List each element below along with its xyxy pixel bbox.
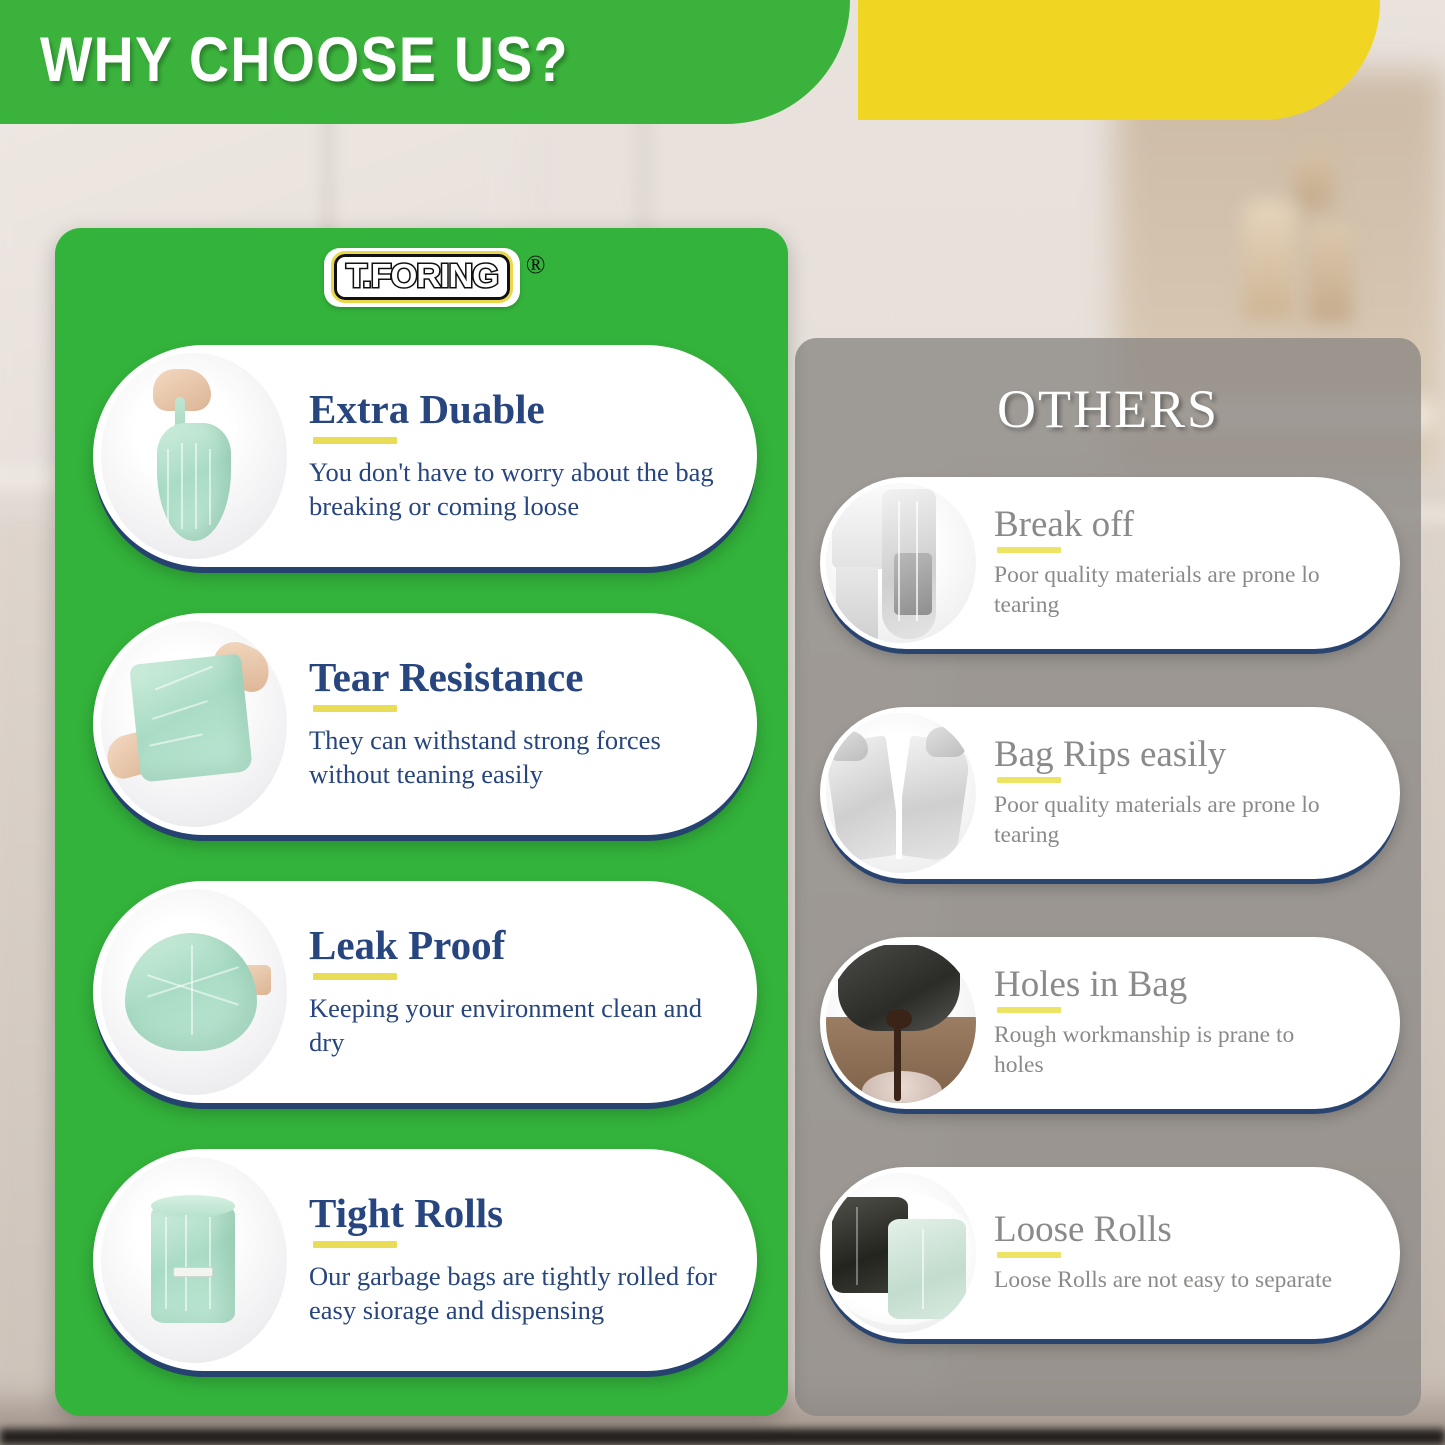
header-yellow-accent [858,0,1380,120]
others-panel-title: OTHERS [795,378,1421,440]
feature-card[interactable]: Extra Duable You don't have to worry abo… [93,345,757,567]
feature-body: Our garbage bags are tightly rolled for … [309,1259,719,1328]
feature-card[interactable]: Leak Proof Keeping your environment clea… [93,881,757,1103]
others-body: Poor quality materials are prone lo tear… [994,791,1334,850]
title-underline [997,547,1061,553]
header-green-banner: WHY CHOOSE US? [0,0,850,124]
water-filled-green-bag-icon [101,889,287,1095]
others-title: Holes in Bag [994,966,1334,1004]
others-body: Rough workmanship is prane to holes [994,1021,1334,1080]
others-card[interactable]: Loose Rolls Loose Rolls are not easy to … [820,1167,1400,1339]
hands-ripping-bag-icon [826,713,976,873]
hands-stretching-green-bag-icon [101,621,287,827]
brand-logo-text: T.FORING [346,259,498,294]
others-body: Poor quality materials are prone lo tear… [994,561,1334,620]
others-body: Loose Rolls are not easy to separate [994,1266,1332,1295]
brand-logo: T.FORING ® [324,248,520,307]
person-carrying-torn-bag-icon [826,483,976,643]
feature-body: You don't have to worry about the bag br… [309,455,719,524]
others-card[interactable]: Bag Rips easily Poor quality materials a… [820,707,1400,879]
feature-title: Tear Resistance [309,656,719,699]
feature-title: Tight Rolls [309,1192,719,1235]
leaking-dark-bag-icon [826,943,976,1103]
two-loose-rolls-icon [826,1173,976,1333]
page-title: WHY CHOOSE US? [40,24,569,96]
title-underline [997,1252,1061,1258]
others-card[interactable]: Holes in Bag Rough workmanship is prane … [820,937,1400,1109]
others-title: Loose Rolls [994,1211,1332,1249]
feature-card[interactable]: Tear Resistance They can withstand stron… [93,613,757,835]
title-underline [313,973,397,980]
title-underline [313,437,397,444]
feature-title: Leak Proof [309,924,719,967]
title-underline [313,1241,397,1248]
green-bag-roll-icon [101,1157,287,1363]
registered-trademark-icon: ® [526,250,546,280]
feature-card[interactable]: Tight Rolls Our garbage bags are tightly… [93,1149,757,1371]
feature-body: They can withstand strong forces without… [309,723,719,792]
hand-holding-green-bag-icon [101,353,287,559]
others-card[interactable]: Break off Poor quality materials are pro… [820,477,1400,649]
title-underline [997,1007,1061,1013]
title-underline [997,777,1061,783]
title-underline [313,705,397,712]
others-title: Break off [994,506,1334,544]
feature-body: Keeping your environment clean and dry [309,991,719,1060]
others-title: Bag Rips easily [994,736,1334,774]
feature-title: Extra Duable [309,388,719,431]
